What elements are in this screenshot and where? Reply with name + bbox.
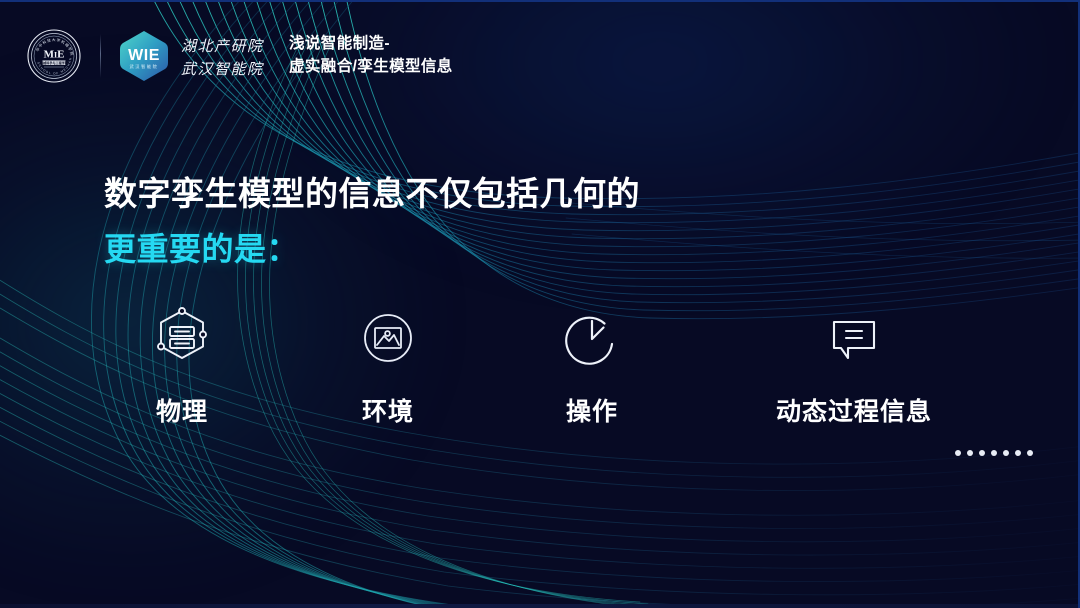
circle-clock-icon (556, 302, 628, 374)
icon-label-operation: 操作 (566, 392, 618, 428)
dot (1003, 450, 1009, 456)
dot (979, 450, 985, 456)
dot (967, 450, 973, 456)
icon-item-physical[interactable]: 物理 (146, 302, 218, 428)
wie-hexagon-logo-icon: WIE 武汉智能院 (115, 28, 173, 84)
calligraphy-line-2: 武汉智能院 (181, 61, 264, 78)
continuation-dots (955, 450, 1033, 456)
icon-item-environment[interactable]: 环境 (352, 302, 424, 428)
icon-item-dynamic-process[interactable]: 动态过程信息 (776, 302, 932, 428)
headline-main-text: 数字孪生模型的信息不仅包括几何的 (104, 174, 640, 214)
icon-item-operation[interactable]: 操作 (556, 302, 628, 428)
dot (955, 450, 961, 456)
icon-label-physical: 物理 (156, 392, 208, 428)
bottom-edge-accent (0, 604, 1080, 608)
wie-logo-subtext: 武汉智能院 (130, 63, 159, 70)
dot (991, 450, 997, 456)
hexagon-server-icon (146, 302, 218, 374)
header-title-line-2: 虚实融合/孪生模型信息 (289, 56, 453, 79)
calligraphy-line-1: 湖北产研院 (181, 38, 264, 55)
header-title-line-1: 浅说智能制造- (289, 33, 453, 56)
icon-label-environment: 环境 (362, 392, 414, 428)
headline-block: 数字孪生模型的信息不仅包括几何的 更重要的是： (104, 174, 640, 269)
circle-image-icon (352, 302, 424, 374)
headline-sub-text: 更重要的是： (104, 230, 640, 269)
svg-text:MIE: MIE (44, 49, 65, 61)
speech-bubble-icon (818, 302, 890, 374)
calligraphy-institute-name-icon: 湖北产研院 武汉智能院 (179, 30, 271, 82)
wie-logo-text: WIE (128, 47, 160, 64)
presentation-slide: 华中科技大学机械学院 SCHOOL OF MECHANICAL MIE 机械科学… (0, 0, 1080, 608)
dot (1015, 450, 1021, 456)
header-title: 浅说智能制造- 虚实融合/孪生模型信息 (289, 33, 453, 78)
university-seal-icon: 华中科技大学机械学院 SCHOOL OF MECHANICAL MIE 机械科学… (26, 28, 82, 84)
slide-header: 华中科技大学机械学院 SCHOOL OF MECHANICAL MIE 机械科学… (26, 24, 453, 88)
icon-label-dynamic-process: 动态过程信息 (776, 392, 932, 428)
icon-row: 物理 环境 操作 (104, 302, 984, 432)
dot (1027, 450, 1033, 456)
svg-text:机械科学与工程学院: 机械科学与工程学院 (40, 60, 69, 65)
header-divider (100, 34, 101, 78)
